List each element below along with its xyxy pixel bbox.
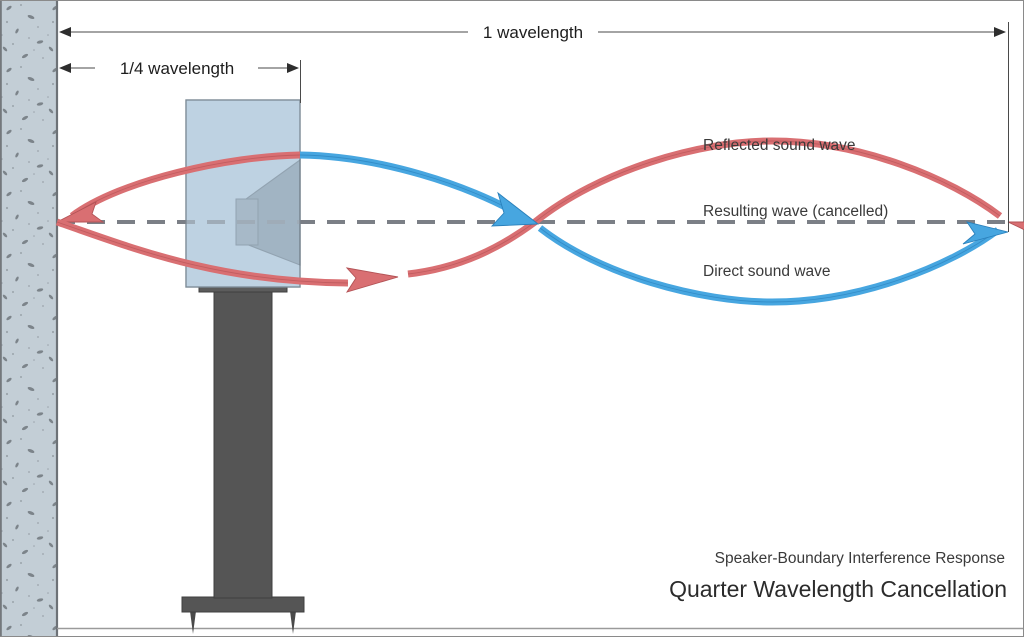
dimension-label-quarter-wavelength: 1/4 wavelength	[120, 59, 234, 78]
speaker-cabinet-glass	[186, 100, 300, 287]
figure-border	[1, 1, 1024, 637]
diagram-canvas: 1 wavelength 1/4 wavelength Reflected so…	[0, 0, 1024, 637]
label-resulting-wave: Resulting wave (cancelled)	[703, 203, 888, 220]
stand-column	[214, 289, 272, 598]
sbir-quarter-wavelength-diagram: 1 wavelength 1/4 wavelength Reflected so…	[0, 0, 1024, 637]
stand-base-plate	[182, 597, 304, 612]
label-reflected-sound-wave: Reflected sound wave	[703, 137, 856, 154]
caption-title: Quarter Wavelength Cancellation	[669, 576, 1007, 602]
boundary-wall	[1, 1, 57, 636]
label-direct-sound-wave: Direct sound wave	[703, 263, 831, 280]
dimension-label-one-wavelength: 1 wavelength	[483, 23, 583, 42]
caption-subtitle: Speaker-Boundary Interference Response	[715, 550, 1005, 567]
